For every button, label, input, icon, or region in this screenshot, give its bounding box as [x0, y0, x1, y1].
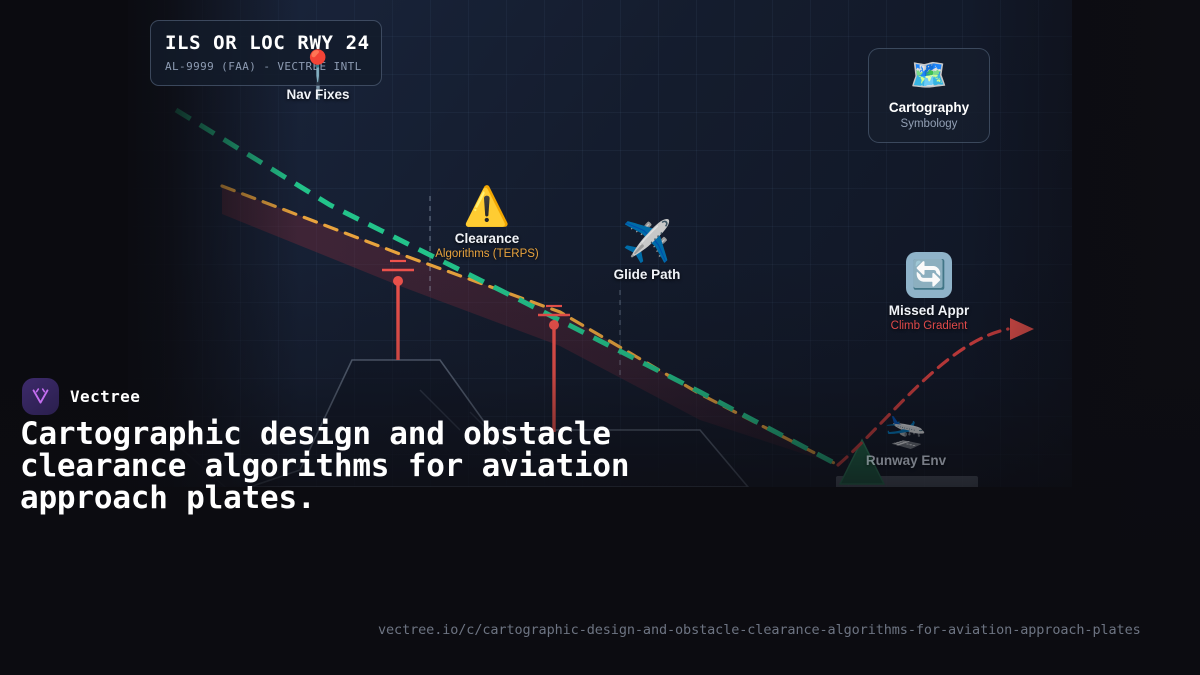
- approach-profile-diagram: [0, 0, 1200, 675]
- missed-approach-arrowhead: [1010, 318, 1034, 340]
- map-node-runway-env[interactable]: 🛬 Runway Env: [846, 414, 966, 468]
- map-node-nav-fixes[interactable]: 📍 Nav Fixes: [258, 52, 378, 102]
- nav-fixes-label: Nav Fixes: [258, 87, 378, 102]
- glide-path-line: [176, 110, 838, 465]
- page-url: vectree.io/c/cartographic-design-and-obs…: [378, 622, 1141, 638]
- brand: Vectree: [22, 378, 140, 415]
- missed-appr-label: Missed Appr: [869, 303, 989, 318]
- round-pushpin-icon: 📍: [258, 52, 378, 82]
- world-map-icon: 🗺️: [877, 61, 981, 91]
- runway-env-label: Runway Env: [846, 453, 966, 468]
- glide-path-label: Glide Path: [587, 267, 707, 282]
- headline: Cartographic design and obstacle clearan…: [20, 418, 780, 514]
- cartography-card-title: Cartography: [877, 100, 981, 115]
- cartography-card[interactable]: 🗺️ Cartography Symbology: [868, 48, 990, 143]
- cartography-card-subtitle: Symbology: [877, 118, 981, 130]
- clearance-label: Clearance: [427, 231, 547, 246]
- airplane-icon: ✈️: [587, 222, 707, 262]
- landing-plane-icon: 🛬: [846, 414, 966, 448]
- promo-card: ILS OR LOC RWY 24 AL-9999 (FAA) - VECTRE…: [0, 0, 1200, 675]
- clearance-sublabel: Algorithms (TERPS): [427, 248, 547, 260]
- map-node-glide-path[interactable]: ✈️ Glide Path: [587, 222, 707, 282]
- missed-appr-sublabel: Climb Gradient: [869, 320, 989, 332]
- map-node-missed-approach[interactable]: 🔄 Missed Appr Climb Gradient: [869, 252, 989, 332]
- vectree-v-logo-icon: [22, 378, 59, 415]
- warning-triangle-icon: ⚠️: [427, 188, 547, 226]
- arrows-loop-icon: 🔄: [906, 252, 952, 298]
- map-node-clearance[interactable]: ⚠️ Clearance Algorithms (TERPS): [427, 188, 547, 260]
- brand-name: Vectree: [70, 387, 140, 406]
